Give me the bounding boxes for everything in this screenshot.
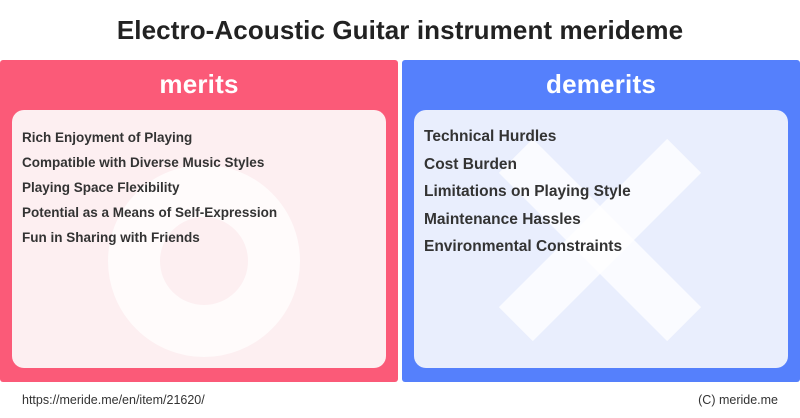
list-item: Cost Burden	[424, 151, 772, 179]
source-url[interactable]: https://meride.me/en/item/21620/	[22, 393, 205, 407]
list-item: Compatible with Diverse Music Styles	[22, 150, 370, 175]
comparison-infographic: Electro-Acoustic Guitar instrument merid…	[0, 0, 800, 418]
list-item: Environmental Constraints	[424, 233, 772, 261]
list-item: Maintenance Hassles	[424, 206, 772, 234]
demerits-card: Technical Hurdles Cost Burden Limitation…	[414, 110, 788, 368]
page-title: Electro-Acoustic Guitar instrument merid…	[117, 15, 683, 46]
panels-container: merits Rich Enjoyment of Playing Compati…	[0, 60, 800, 382]
list-item: Potential as a Means of Self-Expression	[22, 200, 370, 225]
demerits-heading: demerits	[402, 60, 800, 108]
copyright-text: (C) meride.me	[698, 393, 778, 407]
page-title-bar: Electro-Acoustic Guitar instrument merid…	[0, 0, 800, 60]
list-item: Fun in Sharing with Friends	[22, 225, 370, 250]
demerits-panel: demerits Technical Hurdles Cost Burden L…	[402, 60, 800, 382]
list-item: Limitations on Playing Style	[424, 178, 772, 206]
demerits-list: Technical Hurdles Cost Burden Limitation…	[414, 110, 788, 261]
merits-heading: merits	[0, 60, 398, 108]
merits-panel: merits Rich Enjoyment of Playing Compati…	[0, 60, 398, 382]
list-item: Rich Enjoyment of Playing	[22, 125, 370, 150]
merits-card: Rich Enjoyment of Playing Compatible wit…	[12, 110, 386, 368]
list-item: Playing Space Flexibility	[22, 175, 370, 200]
footer: https://meride.me/en/item/21620/ (C) mer…	[0, 382, 800, 418]
list-item: Technical Hurdles	[424, 123, 772, 151]
merits-list: Rich Enjoyment of Playing Compatible wit…	[12, 110, 386, 250]
